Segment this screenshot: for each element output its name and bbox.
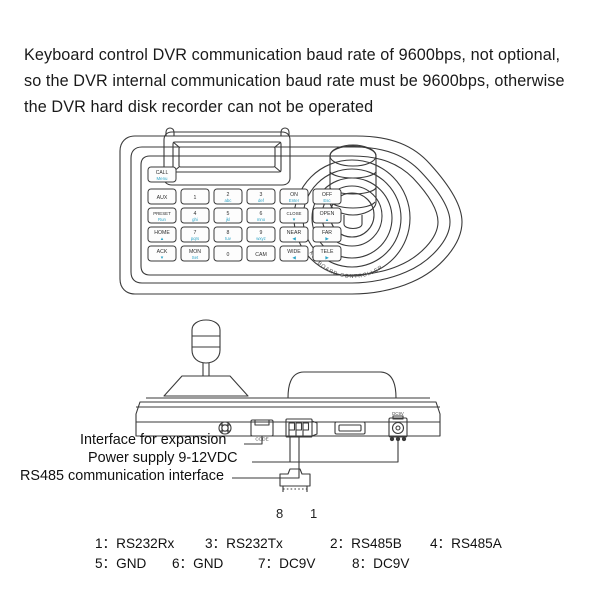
keypad-key-sub-label: wxyz <box>256 236 266 241</box>
keypad-key-sub-label: Set <box>192 255 199 260</box>
keypad-key-sub-label: Esc <box>323 198 331 203</box>
joystick-knob-rib-1 <box>330 172 376 178</box>
call-key[interactable]: CALL Menu <box>148 167 176 182</box>
keypad-key-open[interactable]: OPEN▲ <box>313 208 341 223</box>
keypad-key-9[interactable]: 9wxyz <box>247 227 275 242</box>
keypad-key-sub-label: Run <box>158 217 166 222</box>
keypad-key-0[interactable]: 0 <box>214 246 242 261</box>
intro-paragraph: Keyboard control DVR communication baud … <box>24 42 580 120</box>
call-key-sub-label: Menu <box>157 176 169 181</box>
keypad-key-on[interactable]: ONEnter <box>280 189 308 204</box>
callout-rs485-interface: RS485 communication interface <box>20 468 224 485</box>
pin-assignment-6: 6：GND <box>172 554 223 574</box>
rear-joystick-shaft <box>203 363 209 376</box>
pin-assignment-8: 8：DC9V <box>352 554 409 574</box>
keypad-key-ack[interactable]: ACK▼ <box>148 246 176 261</box>
keypad-key-2[interactable]: 2abc <box>214 189 242 204</box>
keypad-key-sub-label: mno <box>257 217 266 222</box>
keypad-key-near[interactable]: NEAR◀ <box>280 227 308 242</box>
keypad-key-sub-label: jkl <box>225 217 230 222</box>
keypad-key-main-label: CLOSE <box>287 211 302 216</box>
keypad-key-6[interactable]: 6mno <box>247 208 275 223</box>
pin-assignment-3: 3：RS232Tx <box>205 534 283 554</box>
keypad-key-tele[interactable]: TELE▶ <box>313 246 341 261</box>
callout-power-supply: Power supply 9-12VDC <box>88 450 238 467</box>
keypad-key-8[interactable]: 8tuv <box>214 227 242 242</box>
keypad-key-preset[interactable]: PRESETRun <box>148 208 176 223</box>
keypad-key-sub-label: pqrs <box>191 236 199 241</box>
keyboard-top-view-svg: KEYBOARD CONTROLLER CALL Menu AUX12abc3d… <box>0 120 600 315</box>
pin-assignment-2: 2：RS485B <box>330 534 402 554</box>
callout-label-group: Interface for expansion Power supply 9-1… <box>0 432 600 492</box>
connector-pin-number-8: 8 <box>276 506 283 521</box>
keypad-key-main-label: 1 <box>194 195 197 201</box>
keypad-key-close[interactable]: CLOSE▼ <box>280 208 308 223</box>
keypad-key-far[interactable]: FAR▶ <box>313 227 341 242</box>
keypad-key-sub-label: tuv <box>225 236 232 241</box>
keypad-key-sub-label: ▲ <box>325 217 329 222</box>
lcd-screen-inner <box>179 147 275 167</box>
keypad-key-aux[interactable]: AUX <box>148 189 176 204</box>
rear-display-hood <box>288 372 396 398</box>
pin-assignment-4: 4：RS485A <box>430 534 502 554</box>
keypad-key-sub-label: ▼ <box>292 217 296 222</box>
keypad-key-main-label: 0 <box>227 252 230 258</box>
pin-assignment-7: 7：DC9V <box>258 554 315 574</box>
keypad-key-sub-label: Enter <box>289 198 300 203</box>
lcd-housing <box>164 132 290 185</box>
keypad-key-sub-label: abc <box>225 198 233 203</box>
keypad-key-1[interactable]: 1 <box>181 189 209 204</box>
keypad-key-wide[interactable]: WIDE◀ <box>280 246 308 261</box>
pin-legend-row: 5：GND 6：GND 7：DC9V 8：DC9V <box>0 554 600 574</box>
pin-legend-row: 1：RS232Rx 3：RS232Tx 2：RS485B 4：RS485A <box>0 534 600 554</box>
keypad-grid: AUX12abc3defONEnterOFFEscPRESETRun4ghi5j… <box>148 189 341 261</box>
connector-pin-number-1: 1 <box>310 506 317 521</box>
keypad-key-cam[interactable]: CAM <box>247 246 275 261</box>
keypad-key-3[interactable]: 3def <box>247 189 275 204</box>
keypad-key-sub-label: ghi <box>192 217 198 222</box>
callout-interface-for-expansion: Interface for expansion <box>80 432 226 449</box>
keypad-key-main-label: AUX <box>157 195 168 201</box>
keypad-key-main-label: CAM <box>255 252 267 258</box>
port-dc-label: DC9V <box>392 411 404 416</box>
rear-joystick-knob <box>192 320 220 363</box>
keypad-key-sub-label: ▼ <box>160 255 164 260</box>
keypad-key-sub-label: ▲ <box>160 236 164 241</box>
keypad-key-7[interactable]: 7pqrs <box>181 227 209 242</box>
pin-assignment-1: 1：RS232Rx <box>95 534 174 554</box>
keypad-key-off[interactable]: OFFEsc <box>313 189 341 204</box>
connector-pin-numbers: 8 1 <box>0 506 600 524</box>
joystick-shaft-foot <box>344 215 362 229</box>
rear-joystick-platform <box>164 376 248 396</box>
keypad-key-mon[interactable]: MONSet <box>181 246 209 261</box>
pin-assignment-5: 5：GND <box>95 554 146 574</box>
keypad-key-5[interactable]: 5jkl <box>214 208 242 223</box>
keypad-key-4[interactable]: 4ghi <box>181 208 209 223</box>
keypad-key-main-label: PRESET <box>153 211 171 216</box>
keyboard-top-view-figure: KEYBOARD CONTROLLER CALL Menu AUX12abc3d… <box>0 120 600 315</box>
keypad-key-home[interactable]: HOME▲ <box>148 227 176 242</box>
rear-joystick <box>192 320 220 376</box>
keypad-key-sub-label: def <box>258 198 265 203</box>
